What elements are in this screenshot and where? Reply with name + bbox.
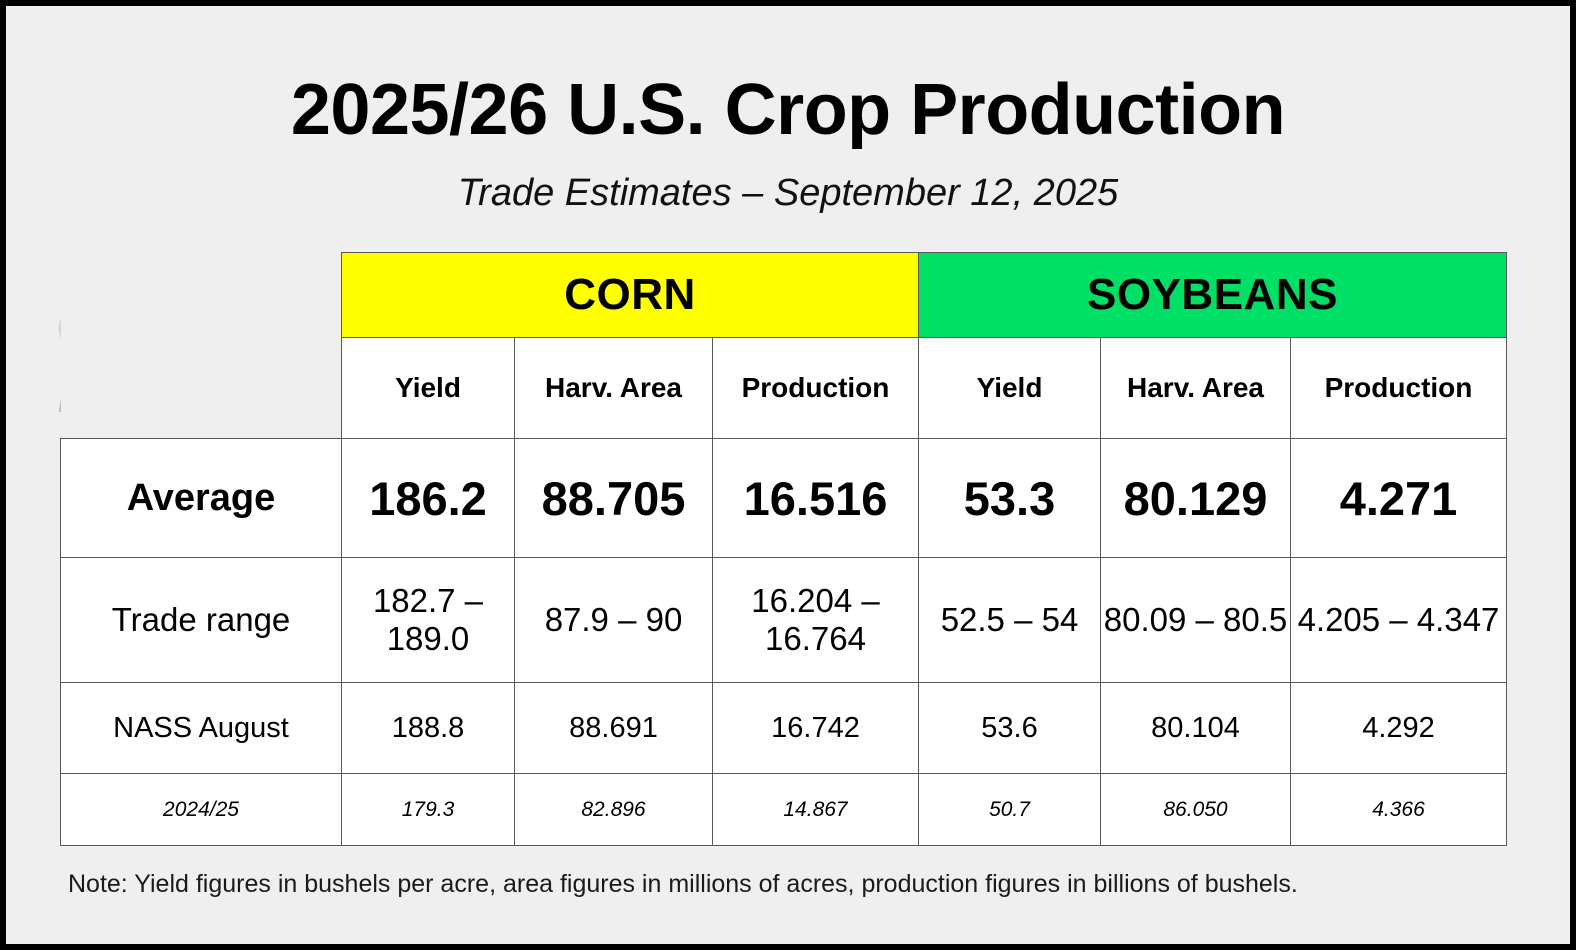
table-row: NASS August 188.8 88.691 16.742 53.6 80.… bbox=[61, 683, 1507, 774]
crop-production-table: CORN SOYBEANS Yield Harv. Area Productio… bbox=[60, 252, 1506, 838]
cell-average-corn-production: 16.516 bbox=[713, 439, 919, 558]
table: CORN SOYBEANS Yield Harv. Area Productio… bbox=[60, 252, 1507, 846]
column-header-corn-yield: Yield bbox=[342, 338, 515, 439]
cell-range-soy-yield: 52.5 – 54 bbox=[919, 558, 1101, 683]
cell-average-corn-yield: 186.2 bbox=[342, 439, 515, 558]
cell-range-soy-harv-area: 80.09 – 80.5 bbox=[1101, 558, 1291, 683]
cell-average-soy-production: 4.271 bbox=[1291, 439, 1507, 558]
cell-prev-corn-harv-area: 82.896 bbox=[515, 774, 713, 846]
table-column-header-row: Yield Harv. Area Production Yield Harv. … bbox=[61, 338, 1507, 439]
corner-spacer-cell-2 bbox=[61, 338, 342, 439]
page-subtitle: Trade Estimates – September 12, 2025 bbox=[0, 174, 1576, 212]
table-row: Average 186.2 88.705 16.516 53.3 80.129 … bbox=[61, 439, 1507, 558]
cell-prev-soy-production: 4.366 bbox=[1291, 774, 1507, 846]
cell-prev-soy-yield: 50.7 bbox=[919, 774, 1101, 846]
group-header-soybeans: SOYBEANS bbox=[919, 253, 1507, 338]
cell-nass-corn-harv-area: 88.691 bbox=[515, 683, 713, 774]
cell-range-corn-yield: 182.7 – 189.0 bbox=[342, 558, 515, 683]
row-label-previous-year: 2024/25 bbox=[61, 774, 342, 846]
cell-average-corn-harv-area: 88.705 bbox=[515, 439, 713, 558]
row-label-average: Average bbox=[61, 439, 342, 558]
cell-range-corn-harv-area: 87.9 – 90 bbox=[515, 558, 713, 683]
table-row: Trade range 182.7 – 189.0 87.9 – 90 16.2… bbox=[61, 558, 1507, 683]
cell-average-soy-yield: 53.3 bbox=[919, 439, 1101, 558]
cell-nass-soy-production: 4.292 bbox=[1291, 683, 1507, 774]
column-header-corn-harv-area: Harv. Area bbox=[515, 338, 713, 439]
cell-prev-corn-production: 14.867 bbox=[713, 774, 919, 846]
cell-prev-corn-yield: 179.3 bbox=[342, 774, 515, 846]
table-group-header-row: CORN SOYBEANS bbox=[61, 253, 1507, 338]
cell-nass-soy-harv-area: 80.104 bbox=[1101, 683, 1291, 774]
row-label-trade-range: Trade range bbox=[61, 558, 342, 683]
column-header-soy-harv-area: Harv. Area bbox=[1101, 338, 1291, 439]
footnote: Note: Yield figures in bushels per acre,… bbox=[68, 870, 1298, 899]
table-row: 2024/25 179.3 82.896 14.867 50.7 86.050 … bbox=[61, 774, 1507, 846]
column-header-soy-production: Production bbox=[1291, 338, 1507, 439]
corner-spacer-cell bbox=[61, 253, 342, 338]
row-label-nass-august: NASS August bbox=[61, 683, 342, 774]
group-header-corn: CORN bbox=[342, 253, 919, 338]
page-title: 2025/26 U.S. Crop Production bbox=[0, 74, 1576, 146]
cell-prev-soy-harv-area: 86.050 bbox=[1101, 774, 1291, 846]
cell-nass-corn-production: 16.742 bbox=[713, 683, 919, 774]
column-header-corn-production: Production bbox=[713, 338, 919, 439]
cell-average-soy-harv-area: 80.129 bbox=[1101, 439, 1291, 558]
poster-canvas: 2025/26 U.S. Crop Production Trade Estim… bbox=[0, 0, 1576, 950]
column-header-soy-yield: Yield bbox=[919, 338, 1101, 439]
cell-nass-corn-yield: 188.8 bbox=[342, 683, 515, 774]
cell-range-corn-production: 16.204 – 16.764 bbox=[713, 558, 919, 683]
cell-range-soy-production: 4.205 – 4.347 bbox=[1291, 558, 1507, 683]
cell-nass-soy-yield: 53.6 bbox=[919, 683, 1101, 774]
